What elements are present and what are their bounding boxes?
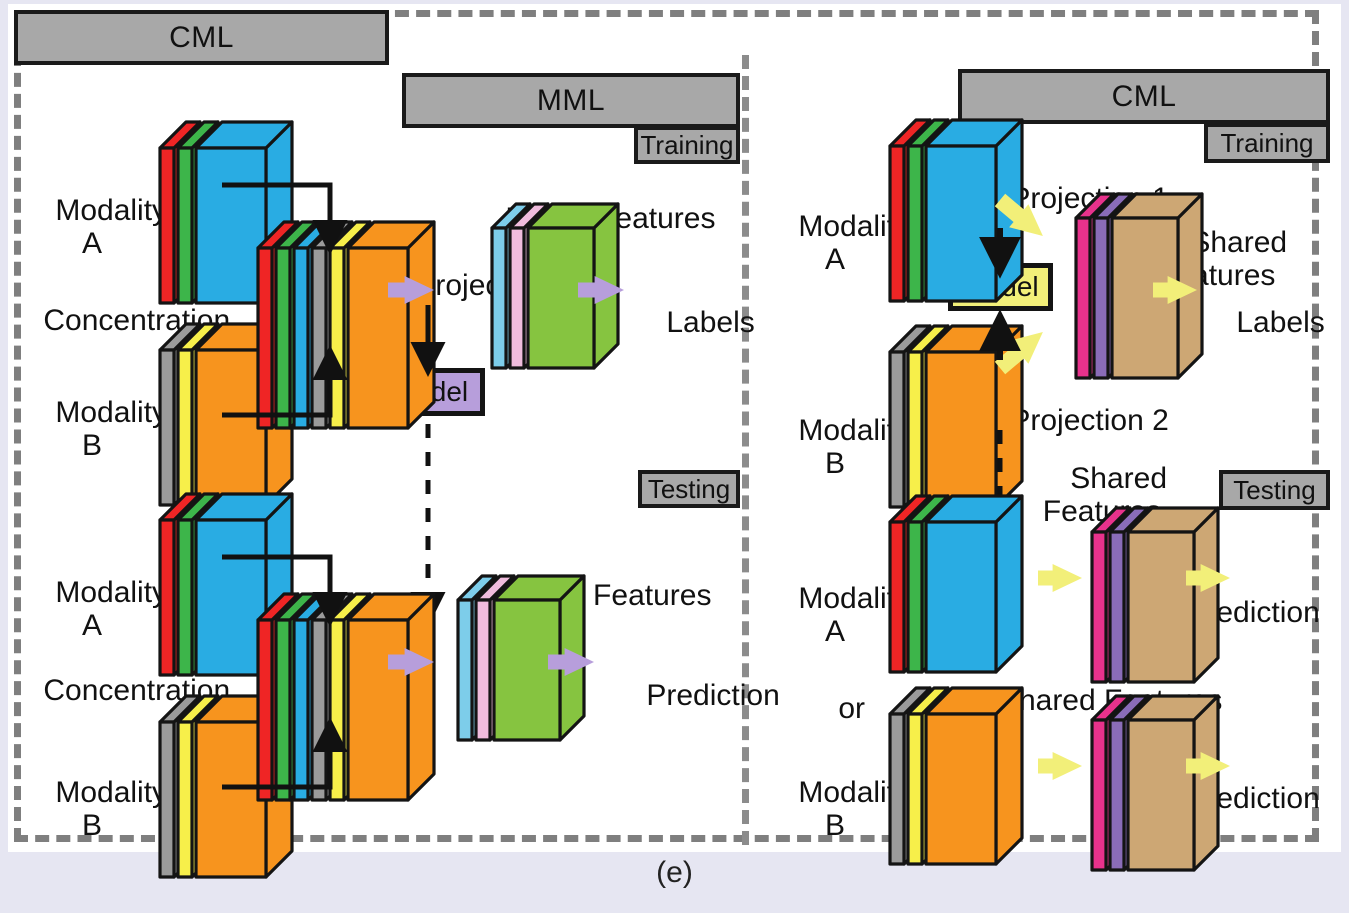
badge-mml-training-label: Training bbox=[641, 130, 734, 161]
label-right-projection-1: Projection 1 bbox=[977, 148, 1177, 249]
text-modality-b: Modality B bbox=[798, 776, 910, 843]
text-shared-features: Shared Features bbox=[999, 684, 1222, 717]
label-left-training-fused-features: Fused Features bbox=[472, 168, 707, 269]
label-right-testing-shared-features-top: Shared Features bbox=[1022, 428, 1182, 562]
text-labels-output: Labels bbox=[1236, 306, 1324, 339]
figure-caption: (e) bbox=[0, 856, 1349, 890]
badge-cml-training-label: Training bbox=[1221, 128, 1314, 159]
text-prediction-output: Prediction bbox=[646, 679, 779, 712]
header-mml-label: MML bbox=[537, 84, 605, 118]
label-right-training-modality-b: Modality B bbox=[765, 380, 905, 514]
text-modality-a: Modality A bbox=[55, 194, 167, 261]
label-left-training-concentration: Concentration bbox=[10, 270, 230, 371]
header-cml-right: CML bbox=[958, 69, 1330, 124]
text-or: or bbox=[838, 692, 865, 725]
text-concentration: Concentration bbox=[43, 304, 230, 337]
label-left-training-output: Labels bbox=[633, 272, 763, 373]
label-right-training-modality-a: Modality A bbox=[765, 176, 905, 310]
label-right-testing-output-a: Prediction bbox=[1153, 562, 1343, 663]
model-box-cml-label: Model bbox=[962, 271, 1038, 303]
text-modality-b: Modality B bbox=[55, 396, 167, 463]
text-projection: Projection bbox=[415, 269, 548, 302]
text-prediction-output: Prediction bbox=[1186, 596, 1319, 629]
badge-cml-testing-label: Testing bbox=[1233, 475, 1315, 506]
header-mml: MML bbox=[402, 73, 740, 128]
text-shared-features: Shared Features bbox=[1043, 462, 1167, 529]
label-right-training-output: Labels bbox=[1203, 272, 1333, 373]
model-box-mml-label: Model bbox=[392, 376, 468, 408]
text-modality-a: Modality A bbox=[55, 576, 167, 643]
badge-mml-testing-label: Testing bbox=[648, 474, 730, 505]
badge-cml-testing: Testing bbox=[1219, 470, 1330, 510]
header-cml-left-label: CML bbox=[169, 21, 234, 55]
badge-mml-training: Training bbox=[634, 126, 740, 164]
label-right-testing-shared-features-mid: Shared Features bbox=[944, 650, 1244, 751]
figure-caption-text: (e) bbox=[656, 856, 693, 889]
header-cml-left: CML bbox=[14, 10, 389, 65]
text-fused-features: Fused Features bbox=[505, 202, 715, 235]
text-modality-b: Modality B bbox=[55, 776, 167, 843]
model-box-cml[interactable]: Model bbox=[948, 263, 1053, 311]
label-left-testing-fused-features: Fused Features bbox=[468, 545, 703, 646]
label-left-testing-concentration: Concentration bbox=[10, 640, 230, 741]
text-prediction-output: Prediction bbox=[1186, 782, 1319, 815]
label-right-testing-output-b: Prediction bbox=[1153, 748, 1343, 849]
text-modality-b: Modality B bbox=[798, 414, 910, 481]
badge-cml-training: Training bbox=[1204, 123, 1330, 163]
text-fused-features: Fused Features bbox=[501, 579, 711, 612]
text-projection-1: Projection 1 bbox=[1010, 182, 1168, 215]
text-modality-a: Modality A bbox=[798, 210, 910, 277]
label-left-training-modality-b: Modality B bbox=[22, 362, 162, 496]
model-box-mml[interactable]: Model bbox=[375, 368, 485, 416]
badge-mml-testing: Testing bbox=[638, 470, 740, 508]
text-concentration: Concentration bbox=[43, 674, 230, 707]
header-cml-right-label: CML bbox=[1112, 80, 1177, 114]
figure-e: CML MML CML Training Testing Training Te… bbox=[0, 0, 1349, 913]
text-labels-output: Labels bbox=[666, 306, 754, 339]
text-modality-a: Modality A bbox=[798, 582, 910, 649]
